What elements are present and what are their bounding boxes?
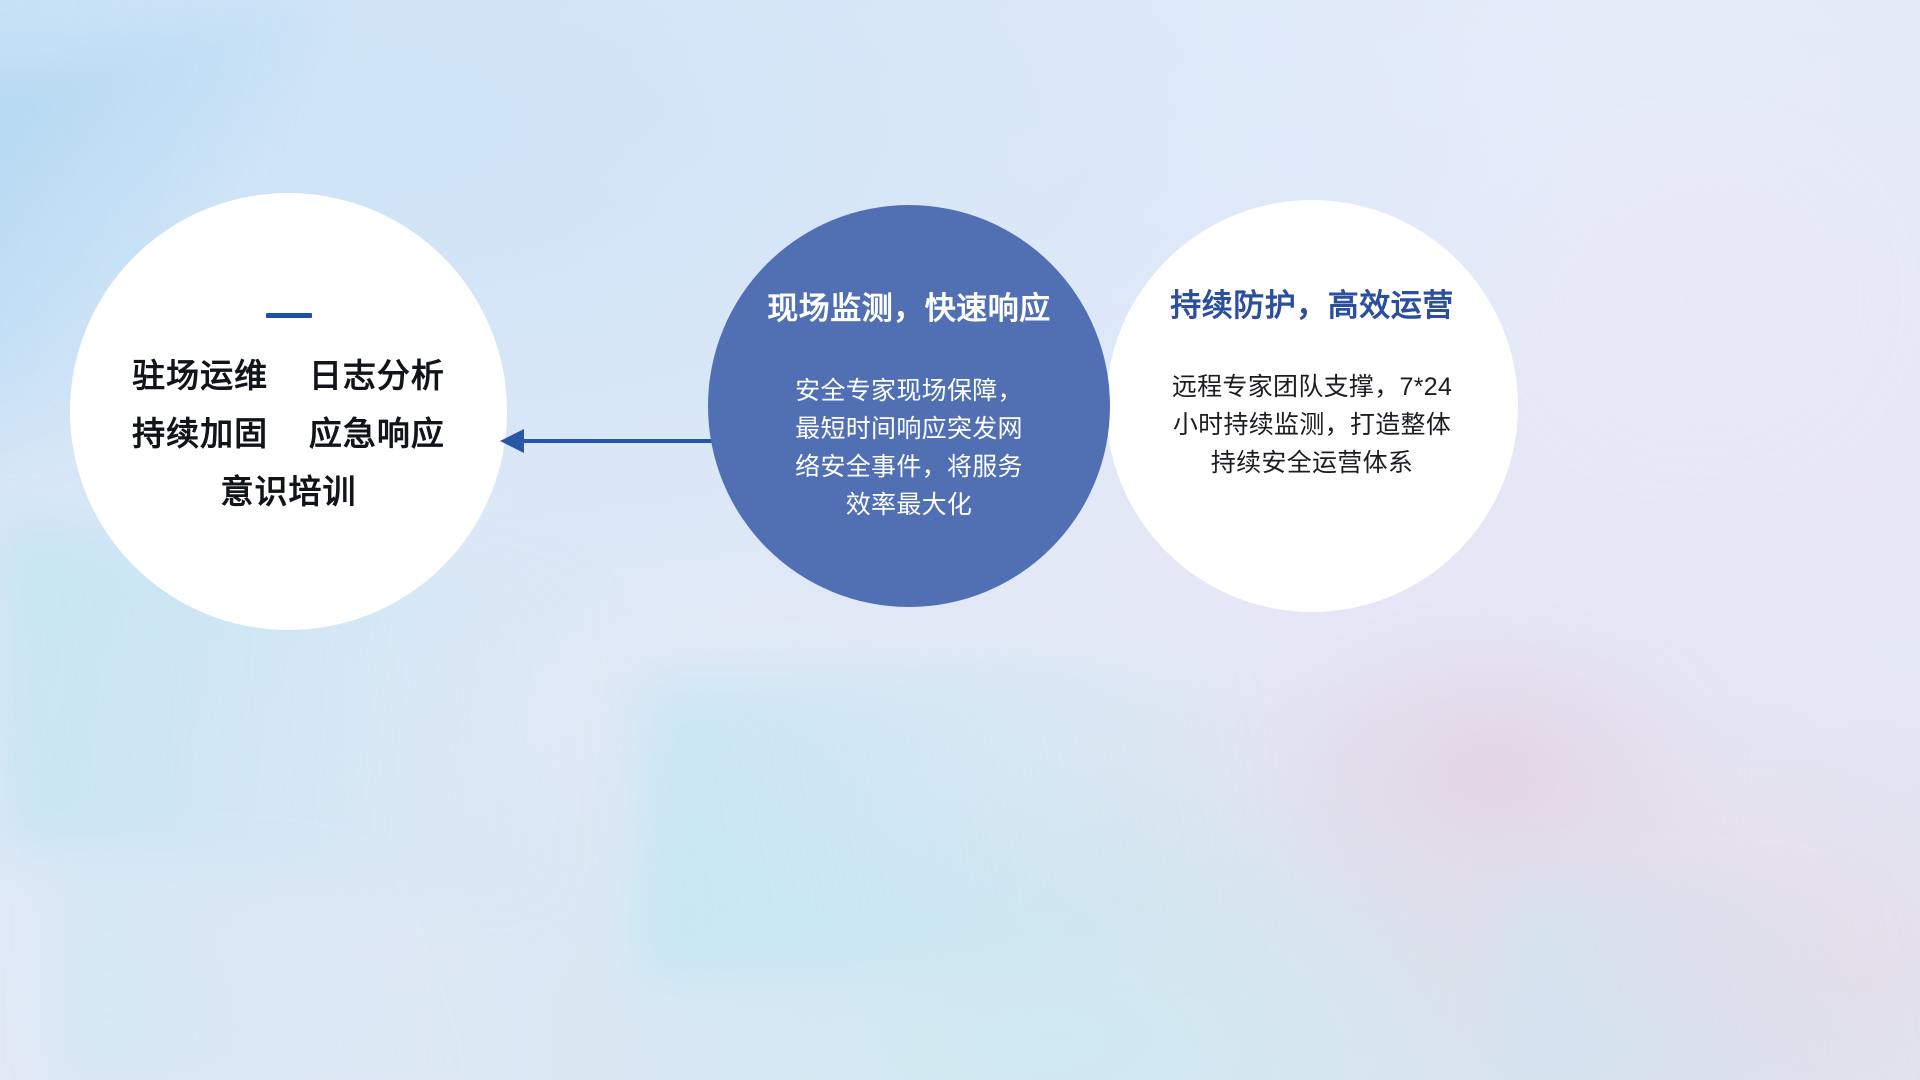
capability-line: 持续加固 应急响应: [132, 416, 445, 452]
capability-list: 驻场运维 日志分析 持续加固 应急响应 意识培训: [132, 358, 445, 511]
feature-circle-right: 持续防护，高效运营 远程专家团队支撑，7*24 小时持续监测，打造整体 持续安全…: [1106, 200, 1518, 612]
body-line: 效率最大化: [759, 486, 1059, 524]
body-line: 小时持续监测，打造整体: [1136, 406, 1488, 444]
background-streak: [60, 860, 480, 1080]
feature-body-right: 远程专家团队支撑，7*24 小时持续监测，打造整体 持续安全运营体系: [1136, 368, 1488, 482]
flow-arrow-icon: [494, 418, 714, 464]
slide-canvas: 驻场运维 日志分析 持续加固 应急响应 意识培训 持续防护，高效运营 远程专家团…: [0, 0, 1920, 1080]
divider-dash: [266, 313, 312, 318]
body-line: 持续安全运营体系: [1136, 444, 1488, 482]
capability-line: 意识培训: [221, 474, 357, 510]
feature-title-middle: 现场监测，快速响应: [767, 291, 1051, 327]
background-streak: [1500, 880, 1920, 1080]
body-line: 络安全事件，将服务: [759, 448, 1059, 486]
body-line: 安全专家现场保障，: [759, 372, 1059, 410]
capability-line: 驻场运维 日志分析: [132, 358, 445, 394]
capability-circle-left: 驻场运维 日志分析 持续加固 应急响应 意识培训: [70, 193, 507, 630]
body-line: 远程专家团队支撑，7*24: [1136, 368, 1488, 406]
feature-body-middle: 安全专家现场保障， 最短时间响应突发网 络安全事件，将服务 效率最大化: [759, 372, 1059, 524]
feature-circle-middle: 现场监测，快速响应 安全专家现场保障， 最短时间响应突发网 络安全事件，将服务 …: [708, 205, 1110, 607]
body-line: 最短时间响应突发网: [759, 410, 1059, 448]
feature-title-right: 持续防护，高效运营: [1170, 288, 1454, 324]
